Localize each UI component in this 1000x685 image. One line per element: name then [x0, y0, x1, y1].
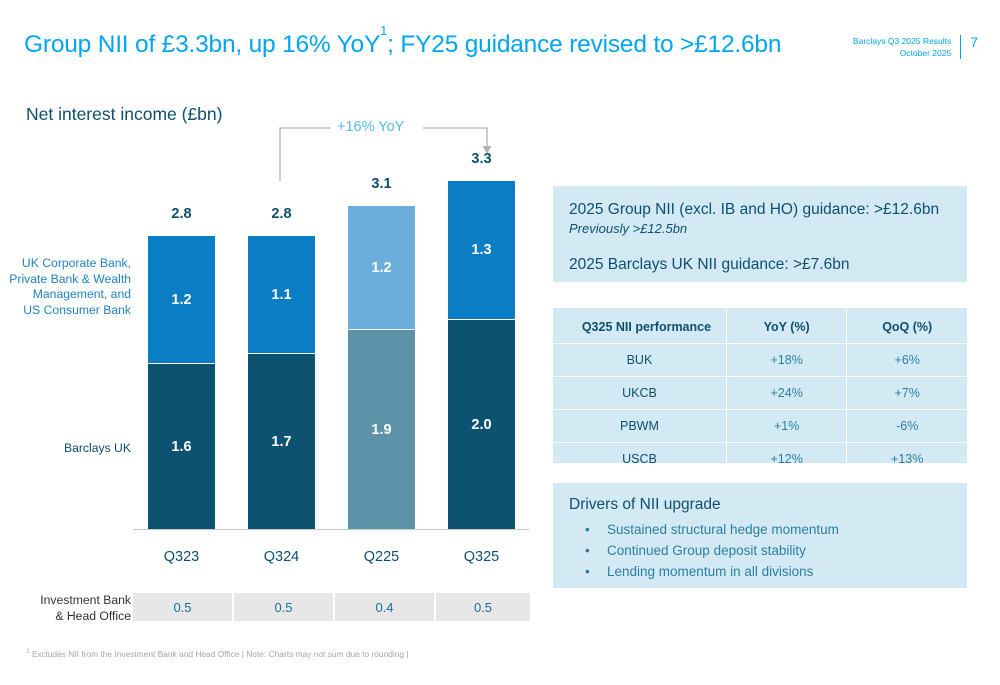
header-meta: Barclays Q3 2025 Results October 2025 7	[853, 36, 978, 59]
driver-item-3-text: Lending momentum in all divisions	[607, 561, 813, 582]
category-label-q325: Q325	[448, 549, 515, 565]
driver-item-3: • Lending momentum in all divisions	[569, 561, 951, 582]
secondary-cell-q324: 0.5	[234, 593, 333, 621]
table-cell-uscb-name: USCB	[553, 443, 726, 476]
header-divider	[960, 35, 961, 59]
table-cell-uscb-qoq: +13%	[847, 443, 967, 476]
table-cell-buk-name: BUK	[553, 344, 726, 377]
performance-table: Q325 NII performance YoY (%) QoQ (%) BUK…	[553, 308, 967, 475]
table-row: USCB +12% +13%	[553, 443, 967, 476]
bar-segment-q323-upper: 1.2	[148, 236, 215, 363]
secondary-row-label-line1: Investment Bank	[0, 592, 131, 608]
guidance-line2: 2025 Barclays UK NII guidance: >£7.6bn	[569, 255, 951, 275]
table-row: UKCB +24% +7%	[553, 377, 967, 410]
footnote-text: Excludes NII from the Investment Bank an…	[30, 649, 409, 659]
table-cell-ukcb-qoq: +7%	[847, 377, 967, 410]
table-cell-buk-yoy: +18%	[726, 344, 847, 377]
growth-label: +16% YoY	[337, 119, 404, 135]
driver-item-1: • Sustained structural hedge momentum	[569, 519, 951, 540]
bar-total-q323: 2.8	[148, 206, 215, 222]
table-header-metric: Q325 NII performance	[553, 308, 726, 344]
series-label-upper-line2: Private Bank & Wealth	[0, 272, 131, 288]
series-label-lower: Barclays UK	[0, 441, 131, 457]
bar-segment-q225-lower: 1.9	[348, 330, 415, 529]
table-cell-pbwm-yoy: +1%	[726, 410, 847, 443]
series-label-upper-line4: US Consumer Bank	[0, 303, 131, 319]
bullet-icon: •	[585, 561, 607, 582]
bullet-icon: •	[585, 519, 607, 540]
table-cell-pbwm-qoq: -6%	[847, 410, 967, 443]
series-label-upper: UK Corporate Bank, Private Bank & Wealth…	[0, 256, 131, 318]
nii-bar-chart: Net interest income (£bn) +16% YoY UK Co…	[0, 0, 540, 640]
secondary-row-label: Investment Bank & Head Office	[0, 592, 131, 624]
guidance-line1-sub: Previously >£12.5bn	[569, 220, 951, 238]
bar-total-q324: 2.8	[248, 206, 315, 222]
table-row: PBWM +1% -6%	[553, 410, 967, 443]
guidance-line1: 2025 Group NII (excl. IB and HO) guidanc…	[569, 200, 951, 220]
header-meta-lines: Barclays Q3 2025 Results October 2025	[853, 36, 951, 59]
driver-item-2-text: Continued Group deposit stability	[607, 540, 806, 561]
driver-item-2: • Continued Group deposit stability	[569, 540, 951, 561]
series-label-upper-line3: Management, and	[0, 287, 131, 303]
table-cell-ukcb-name: UKCB	[553, 377, 726, 410]
secondary-cell-q325: 0.5	[436, 593, 530, 621]
table-header-yoy: YoY (%)	[726, 308, 847, 344]
growth-bracket-icon	[0, 0, 540, 200]
table-cell-uscb-yoy: +12%	[726, 443, 847, 476]
table-header-row: Q325 NII performance YoY (%) QoQ (%)	[553, 308, 967, 344]
header-deck-name: Barclays Q3 2025 Results	[853, 36, 951, 48]
category-label-q225: Q225	[348, 549, 415, 565]
secondary-cell-q225: 0.4	[335, 593, 434, 621]
guidance-panel: 2025 Group NII (excl. IB and HO) guidanc…	[553, 186, 967, 282]
table-cell-buk-qoq: +6%	[847, 344, 967, 377]
table-header-qoq: QoQ (%)	[847, 308, 967, 344]
category-label-q324: Q324	[248, 549, 315, 565]
bar-segment-q225-upper: 1.2	[348, 206, 415, 329]
bar-segment-q324-lower: 1.7	[248, 354, 315, 529]
drivers-title: Drivers of NII upgrade	[569, 496, 951, 514]
category-label-q323: Q323	[148, 549, 215, 565]
bar-total-q325: 3.3	[448, 151, 515, 167]
bar-total-q225: 3.1	[348, 176, 415, 192]
table-cell-ukcb-yoy: +24%	[726, 377, 847, 410]
performance-table-panel: Q325 NII performance YoY (%) QoQ (%) BUK…	[553, 308, 967, 463]
drivers-panel: Drivers of NII upgrade • Sustained struc…	[553, 483, 967, 588]
secondary-cell-q323: 0.5	[133, 593, 232, 621]
bullet-icon: •	[585, 540, 607, 561]
chart-axis-line	[133, 529, 529, 530]
bar-segment-q325-upper: 1.3	[448, 181, 515, 319]
bar-segment-q324-upper: 1.1	[248, 236, 315, 353]
driver-item-1-text: Sustained structural hedge momentum	[607, 519, 839, 540]
bar-segment-q325-lower: 2.0	[448, 320, 515, 529]
table-cell-pbwm-name: PBWM	[553, 410, 726, 443]
secondary-row-label-line2: & Head Office	[0, 608, 131, 624]
series-label-upper-line1: UK Corporate Bank,	[0, 256, 131, 272]
table-row: BUK +18% +6%	[553, 344, 967, 377]
bar-segment-q323-lower: 1.6	[148, 364, 215, 529]
page-number: 7	[970, 35, 978, 49]
footnote: 1 Excludes NII from the Investment Bank …	[26, 648, 409, 659]
header-deck-date: October 2025	[853, 48, 951, 60]
